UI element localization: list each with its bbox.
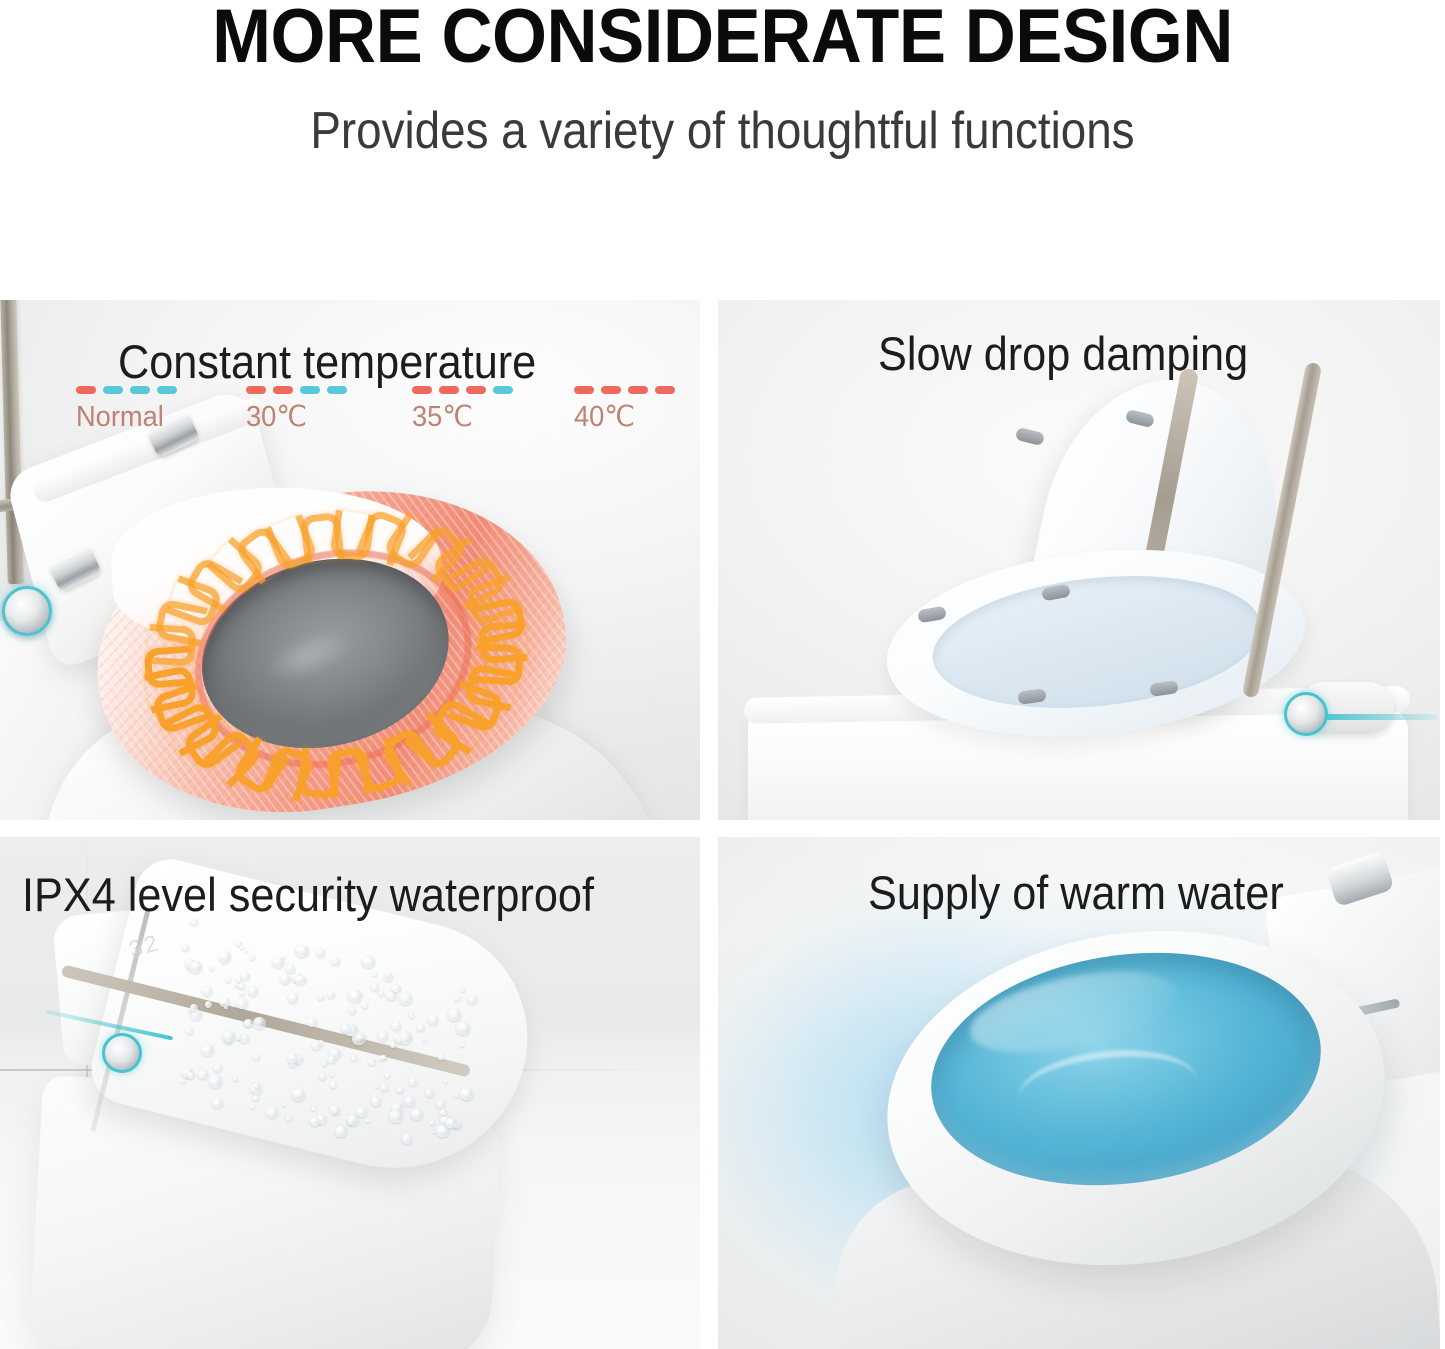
dash-hot [439,386,459,394]
water-droplet [366,1119,370,1123]
water-droplet [312,1042,321,1050]
water-droplet [368,1059,375,1066]
water-droplet [333,1110,337,1114]
water-droplet [238,983,245,989]
dash-cool [493,386,513,394]
water-droplet [362,1003,368,1009]
panel-title-constant-temperature: Constant temperature [118,338,536,385]
feature-grid: Constant temperature Normal30℃35℃40℃ Slo… [0,300,1445,1349]
header-section: MORE CONSIDERATE DESIGN Provides a varie… [0,0,1445,300]
water-droplet [371,1097,381,1106]
water-droplet [460,1043,464,1047]
side-control-knob[interactable] [2,586,52,636]
temperature-label: 30℃ [246,402,341,432]
water-droplet [292,1088,306,1100]
water-droplet [404,1096,415,1106]
water-droplet [328,1056,336,1063]
water-droplet [371,983,379,991]
water-droplet [349,1007,356,1014]
water-droplet [392,985,401,993]
water-droplet [202,986,213,996]
water-droplet [396,1086,404,1093]
water-droplet [411,1109,423,1120]
temperature-label: 40℃ [574,402,669,432]
dash-hot [273,386,293,394]
water-droplet [240,946,244,950]
water-droplet [209,1075,222,1087]
side-accent-strip [1318,714,1438,720]
water-droplet [440,1109,447,1115]
heated-seat-assembly [75,461,588,820]
water-droplet [189,961,202,973]
dash-hot [574,386,594,394]
side-control-knob[interactable] [1284,692,1328,736]
water-droplet [428,1015,439,1025]
dash-hot [601,386,621,394]
dash-hot [246,386,266,394]
temperature-step: 30℃ [246,386,347,432]
temperature-dashes [246,386,347,394]
water-droplet [253,1095,259,1101]
water-droplet [348,1119,355,1125]
temperature-label: Normal [76,402,171,432]
dash-hot [466,386,486,394]
water-droplet [378,1031,388,1041]
water-droplet [362,956,375,968]
panel-title-ipx4-waterproof: IPX4 level security waterproof [22,871,594,918]
water-droplet [417,1024,425,1031]
water-droplet [436,1100,445,1108]
water-droplet [348,990,361,1002]
panel-warm-water-supply: Supply of warm water [718,837,1440,1349]
water-droplet [307,1018,317,1027]
temperature-scale: Normal30℃35℃40℃ [76,386,636,448]
temperature-label: 35℃ [412,402,507,432]
water-droplet [251,1105,255,1109]
panel-title-slow-drop-damping: Slow drop damping [878,330,1248,377]
dash-cool [130,386,150,394]
dash-cool [103,386,123,394]
water-droplet [282,955,285,958]
water-droplet [372,972,377,977]
panel-constant-temperature: Constant temperature Normal30℃35℃40℃ [0,300,700,820]
water-droplet [319,1073,326,1080]
temperature-step: 40℃ [574,386,675,432]
temperature-dashes [76,386,177,394]
water-droplet [430,1121,434,1125]
page-title: MORE CONSIDERATE DESIGN [51,0,1395,76]
side-control-knob[interactable] [102,1033,142,1073]
dash-hot [76,386,96,394]
water-droplet [460,1088,473,1100]
water-droplet [287,1053,298,1063]
temperature-dashes [412,386,513,394]
water-droplet [335,1126,347,1137]
water-droplet [316,948,325,956]
water-droplet [214,1064,223,1072]
water-droplet [201,1044,214,1056]
water-droplet [253,1017,266,1029]
temperature-step: Normal [76,386,177,432]
water-droplet [226,978,231,982]
water-droplet [409,1013,414,1018]
page-subtitle: Provides a variety of thoughtful functio… [87,104,1359,159]
water-droplet [236,998,248,1009]
dash-hot [628,386,648,394]
water-droplet [295,945,308,957]
lid-bumper [1015,427,1045,446]
panel-slow-drop-damping: Slow drop damping [718,300,1440,820]
water-droplet [186,1028,193,1034]
backrest-bar-vertical [0,300,24,584]
dash-cool [327,386,347,394]
dash-cool [300,386,320,394]
dash-hot [412,386,432,394]
water-droplet [467,995,477,1004]
water-droplet [235,1034,242,1040]
water-droplet [223,1030,235,1041]
water-droplet [286,1115,292,1121]
dash-hot [655,386,675,394]
water-droplet [379,991,384,996]
dash-cool [157,386,177,394]
water-droplet [322,1061,327,1065]
water-droplet [444,1080,448,1083]
temperature-dashes [574,386,675,394]
water-droplet [389,1110,403,1123]
water-droplet [295,975,306,985]
water-droplet [310,1117,320,1126]
panel-title-warm-water-supply: Supply of warm water [868,869,1284,916]
water-droplet [254,1083,259,1088]
water-droplet [244,1019,253,1027]
temperature-step: 35℃ [412,386,513,432]
water-droplet [248,986,259,996]
panel-ipx4-waterproof: 32 IPX4 level security waterproof [0,837,700,1349]
